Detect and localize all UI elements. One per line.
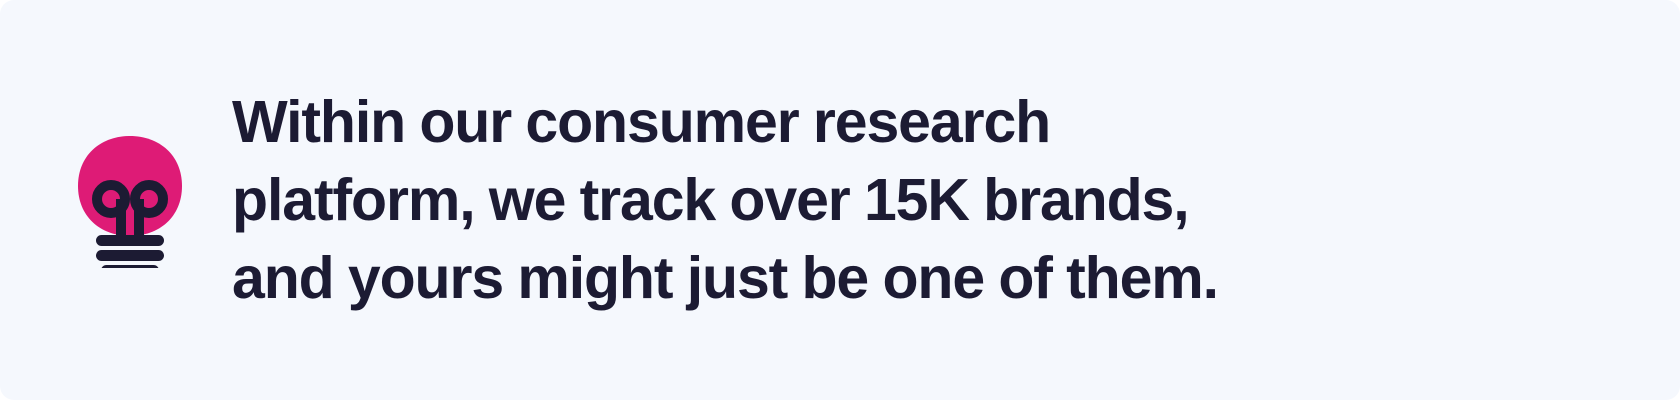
headline-line-1: Within our consumer research [232, 83, 1680, 161]
bulb-base-bar-3 [101, 265, 159, 268]
bulb-glow-shape [78, 136, 182, 236]
bulb-base-bar-1 [96, 235, 164, 246]
headline-line-2: platform, we track over 15K brands, [232, 161, 1680, 239]
callout-headline: Within our consumer research platform, w… [232, 83, 1680, 317]
headline-line-3: and yours might just be one of them. [232, 239, 1680, 317]
insight-callout-card: Within our consumer research platform, w… [0, 0, 1680, 400]
filament-post-left [116, 199, 126, 237]
bulb-base-bar-2 [96, 250, 164, 261]
lightbulb-icon [78, 136, 182, 268]
filament-post-right [134, 199, 144, 237]
lightbulb-icon-container [78, 136, 182, 268]
